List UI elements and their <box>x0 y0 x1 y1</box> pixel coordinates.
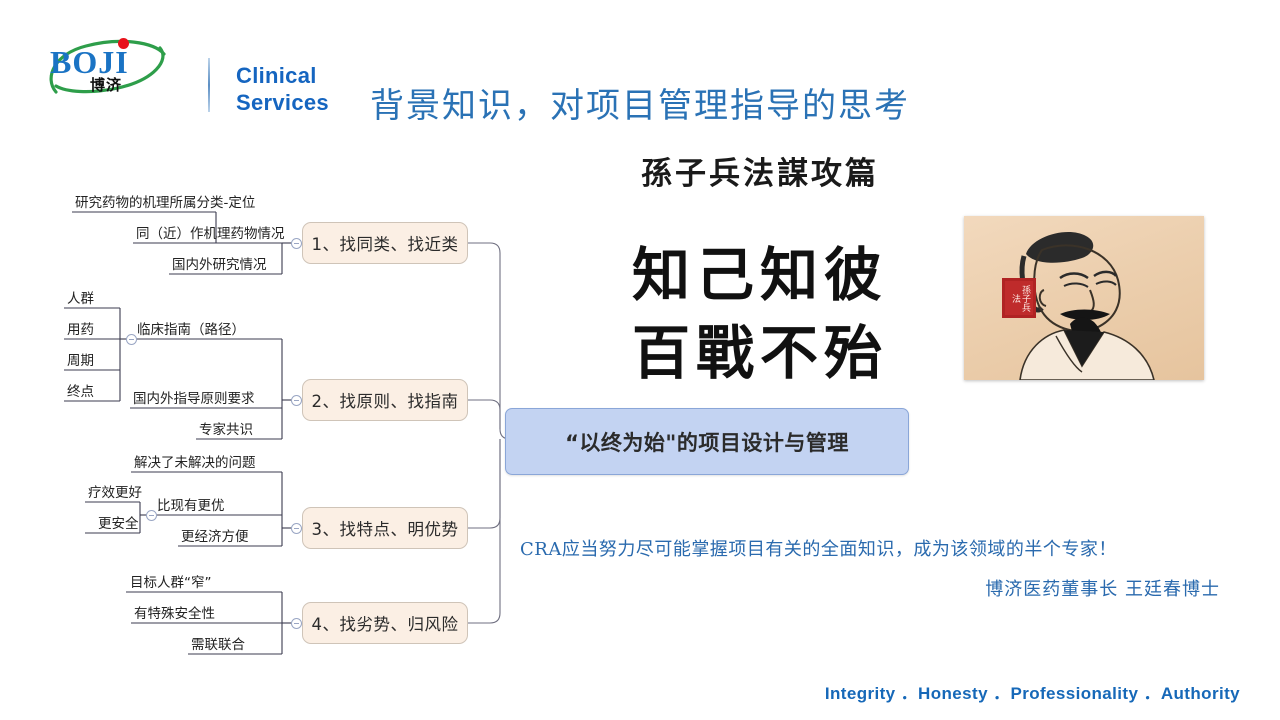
sunzi-quote-line1: 知己知彼 <box>560 228 960 312</box>
mindmap-node-1[interactable]: 1、找同类、找近类 <box>302 222 468 264</box>
quote-attribution: 博济医药董事长 王廷春博士 <box>520 575 1220 601</box>
sun-tzu-portrait-image: 孫子兵法 <box>964 216 1204 380</box>
red-seal-icon: 孫子兵法 <box>1002 278 1036 318</box>
mindmap-node-4[interactable]: 4、找劣势、归风险 <box>302 602 468 644</box>
leaf-1-3: 国内外研究情况 <box>172 258 267 273</box>
leaf-2-2: 国内外指导原则要求 <box>133 392 255 407</box>
collapse-toggle-branch-1[interactable] <box>291 238 302 249</box>
collapse-toggle-branch-2-sub[interactable] <box>126 334 137 345</box>
leaf-1-2: 同（近）作机理药物情况 <box>136 227 285 242</box>
leaf-3-2: 比现有更优 <box>157 499 225 514</box>
leaf-3-sub-2: 更安全 <box>98 517 139 532</box>
leaf-1-1: 研究药物的机理所属分类-定位 <box>75 196 255 211</box>
footer-slogan: Integrity ．Honesty ．Professionality ．Aut… <box>825 679 1240 704</box>
conclusion-box[interactable]: “以终为始"的项目设计与管理 <box>505 408 909 475</box>
leaf-3-1: 解决了未解决的问题 <box>134 456 256 471</box>
sunzi-chapter-heading: 孫子兵法謀攻篇 <box>560 148 960 193</box>
seal-text: 孫子兵法 <box>1008 284 1030 312</box>
collapse-toggle-branch-3[interactable] <box>291 523 302 534</box>
leaf-2-sub-1: 人群 <box>67 292 94 307</box>
leaf-2-3: 专家共识 <box>199 423 253 438</box>
leaf-4-2: 有特殊安全性 <box>134 607 215 622</box>
leaf-3-sub-1: 疗效更好 <box>88 486 142 501</box>
mindmap: 研究药物的机理所属分类-定位 同（近）作机理药物情况 国内外研究情况 1、找同类… <box>0 150 520 680</box>
portrait-illustration-icon <box>964 216 1204 380</box>
mindmap-node-2[interactable]: 2、找原则、找指南 <box>302 379 468 421</box>
page-title: 背景知识，对项目管理指导的思考 <box>0 78 1280 127</box>
leaf-2-1: 临床指南（路径） <box>137 323 245 338</box>
leaf-2-sub-3: 周期 <box>67 354 94 369</box>
collapse-toggle-branch-3-sub[interactable] <box>146 510 157 521</box>
sunzi-quote-line2: 百戰不殆 <box>560 306 960 390</box>
mindmap-node-3[interactable]: 3、找特点、明优势 <box>302 507 468 549</box>
leaf-2-sub-2: 用药 <box>67 323 94 338</box>
leaf-2-sub-4: 终点 <box>67 385 94 400</box>
leaf-4-1: 目标人群“窄” <box>130 576 212 591</box>
collapse-toggle-branch-4[interactable] <box>291 618 302 629</box>
quote-text: CRA应当努力尽可能掌握项目有关的全面知识，成为该领域的半个专家！ <box>520 535 1220 561</box>
leaf-4-3: 需联联合 <box>191 638 245 653</box>
collapse-toggle-branch-2[interactable] <box>291 395 302 406</box>
leaf-3-3: 更经济方便 <box>181 530 249 545</box>
slide-canvas: BOJI 博济 Clinical Services 背景知识，对项目管理指导的思… <box>0 0 1280 720</box>
